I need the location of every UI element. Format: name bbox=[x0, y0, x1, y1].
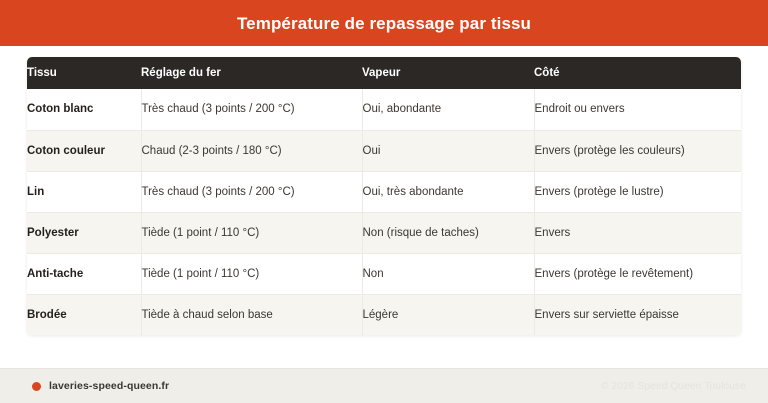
column-header-cote: Côté bbox=[534, 57, 741, 89]
cell-cote: Envers sur serviette épaisse bbox=[534, 294, 741, 335]
cell-vapeur: Oui, abondante bbox=[362, 89, 534, 130]
cell-reglage: Très chaud (3 points / 200 °C) bbox=[141, 89, 362, 130]
table-card: Tissu Réglage du fer Vapeur Côté Coton b… bbox=[27, 57, 741, 335]
cell-vapeur: Non bbox=[362, 253, 534, 294]
cell-reglage: Tiède (1 point / 110 °C) bbox=[141, 253, 362, 294]
cell-tissu: Coton couleur bbox=[27, 130, 141, 171]
table-header-row: Tissu Réglage du fer Vapeur Côté bbox=[27, 57, 741, 89]
footer-watermark: © 2026 Speed Queen Toulouse bbox=[601, 381, 746, 392]
cell-tissu: Lin bbox=[27, 171, 141, 212]
cell-tissu: Coton blanc bbox=[27, 89, 141, 130]
cell-vapeur: Oui, très abondante bbox=[362, 171, 534, 212]
page-footer: laveries-speed-queen.fr © 2026 Speed Que… bbox=[0, 368, 768, 403]
column-header-reglage-du-fer: Réglage du fer bbox=[141, 57, 362, 89]
table-row: Coton blanc Très chaud (3 points / 200 °… bbox=[27, 89, 741, 130]
cell-reglage: Très chaud (3 points / 200 °C) bbox=[141, 171, 362, 212]
dot-icon bbox=[32, 382, 41, 391]
cell-tissu: Brodée bbox=[27, 294, 141, 335]
cell-tissu: Anti-tache bbox=[27, 253, 141, 294]
table-row: Coton couleur Chaud (2-3 points / 180 °C… bbox=[27, 130, 741, 171]
cell-reglage: Chaud (2-3 points / 180 °C) bbox=[141, 130, 362, 171]
footer-site-label: laveries-speed-queen.fr bbox=[49, 380, 169, 392]
column-header-vapeur: Vapeur bbox=[362, 57, 534, 89]
ironing-temperature-table: Tissu Réglage du fer Vapeur Côté Coton b… bbox=[27, 57, 741, 335]
table-row: Anti-tache Tiède (1 point / 110 °C) Non … bbox=[27, 253, 741, 294]
cell-reglage: Tiède (1 point / 110 °C) bbox=[141, 212, 362, 253]
column-header-tissu: Tissu bbox=[27, 57, 141, 89]
footer-brand: laveries-speed-queen.fr bbox=[32, 380, 169, 392]
page-banner: Température de repassage par tissu bbox=[0, 0, 768, 46]
cell-reglage: Tiède à chaud selon base bbox=[141, 294, 362, 335]
table-body: Coton blanc Très chaud (3 points / 200 °… bbox=[27, 89, 741, 335]
table-card-wrapper: Tissu Réglage du fer Vapeur Côté Coton b… bbox=[0, 46, 768, 335]
cell-vapeur: Non (risque de taches) bbox=[362, 212, 534, 253]
page-title: Température de repassage par tissu bbox=[237, 15, 531, 32]
cell-vapeur: Oui bbox=[362, 130, 534, 171]
cell-cote: Envers bbox=[534, 212, 741, 253]
cell-tissu: Polyester bbox=[27, 212, 141, 253]
cell-cote: Envers (protège les couleurs) bbox=[534, 130, 741, 171]
table-row: Brodée Tiède à chaud selon base Légère E… bbox=[27, 294, 741, 335]
table-row: Lin Très chaud (3 points / 200 °C) Oui, … bbox=[27, 171, 741, 212]
cell-cote: Envers (protège le lustre) bbox=[534, 171, 741, 212]
cell-cote: Endroit ou envers bbox=[534, 89, 741, 130]
cell-cote: Envers (protège le revêtement) bbox=[534, 253, 741, 294]
table-row: Polyester Tiède (1 point / 110 °C) Non (… bbox=[27, 212, 741, 253]
table-header: Tissu Réglage du fer Vapeur Côté bbox=[27, 57, 741, 89]
cell-vapeur: Légère bbox=[362, 294, 534, 335]
